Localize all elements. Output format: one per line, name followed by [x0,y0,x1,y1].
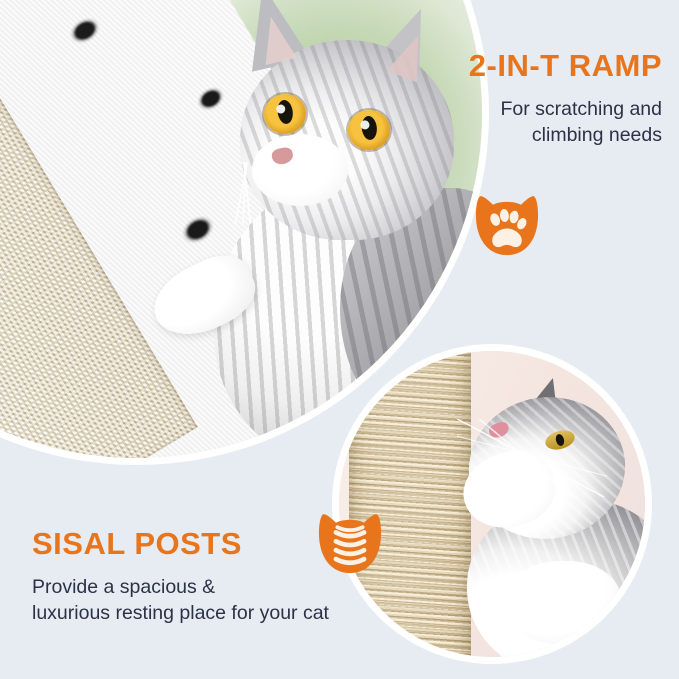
cat-paw-fluff [503,561,621,645]
feature-block-ramp: 2-IN-T RAMP For scratching and climbing … [380,50,662,148]
feature-subline-sisal-line2: luxurious resting place for your cat [32,600,382,626]
cat-whiskers [184,162,314,224]
cat-whiskers [457,419,607,497]
feature-headline-ramp: 2-IN-T RAMP [380,50,662,83]
cat-eye-glint-right [360,120,370,130]
feature-subline-ramp: For scratching and climbing needs [380,96,662,148]
infographic-canvas: 2-IN-T RAMP For scratching and climbing … [0,0,679,679]
fluffy-gray-white-cat [447,379,645,657]
cat-head-rope-coil-icon [313,508,387,582]
feature-subline-ramp-line1: For scratching and [380,96,662,122]
feature-subline-ramp-line2: climbing needs [380,122,662,148]
bottom-photo [339,351,645,657]
cat-head-paw-print-icon [470,190,544,264]
cat-eye-glint-left [275,104,285,114]
